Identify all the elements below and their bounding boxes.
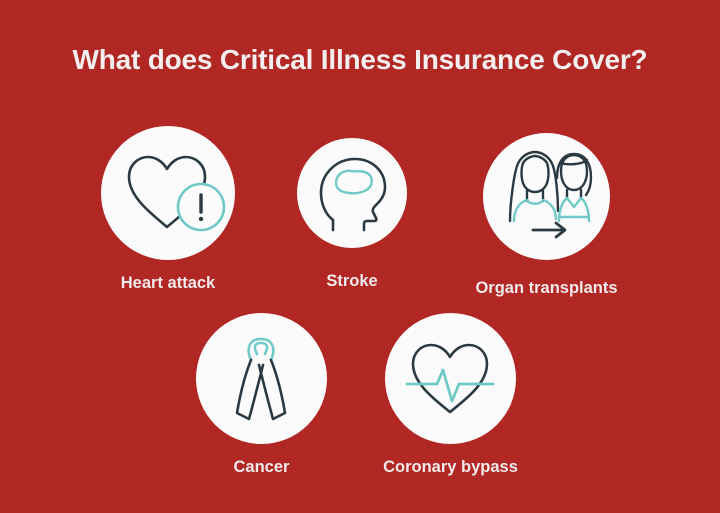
item-label-coronary-bypass: Coronary bypass bbox=[383, 458, 518, 477]
item-coronary-bypass: Coronary bypass bbox=[385, 313, 516, 477]
item-organ-transplants: Organ transplants bbox=[483, 133, 610, 298]
heart-pulse-icon bbox=[385, 313, 516, 444]
icon-circle-cancer bbox=[196, 313, 327, 444]
page-title: What does Critical Illness Insurance Cov… bbox=[0, 45, 720, 76]
critical-illness-infographic: What does Critical Illness Insurance Cov… bbox=[0, 0, 720, 513]
item-cancer: Cancer bbox=[196, 313, 327, 477]
item-label-organ-transplants: Organ transplants bbox=[475, 279, 617, 298]
heart-with-alert-icon bbox=[101, 126, 235, 260]
item-label-heart-attack: Heart attack bbox=[121, 274, 215, 293]
icon-circle-heart-attack bbox=[101, 126, 235, 260]
item-label-cancer: Cancer bbox=[234, 458, 290, 477]
item-stroke: Stroke bbox=[297, 138, 407, 291]
icon-circle-stroke bbox=[297, 138, 407, 248]
awareness-ribbon-icon bbox=[196, 313, 327, 444]
item-heart-attack: Heart attack bbox=[101, 126, 235, 293]
head-brain-icon bbox=[297, 138, 407, 248]
two-people-arrow-icon bbox=[483, 133, 610, 260]
icon-circle-coronary-bypass bbox=[385, 313, 516, 444]
item-label-stroke: Stroke bbox=[326, 272, 377, 291]
icon-circle-organ-transplants bbox=[483, 133, 610, 260]
